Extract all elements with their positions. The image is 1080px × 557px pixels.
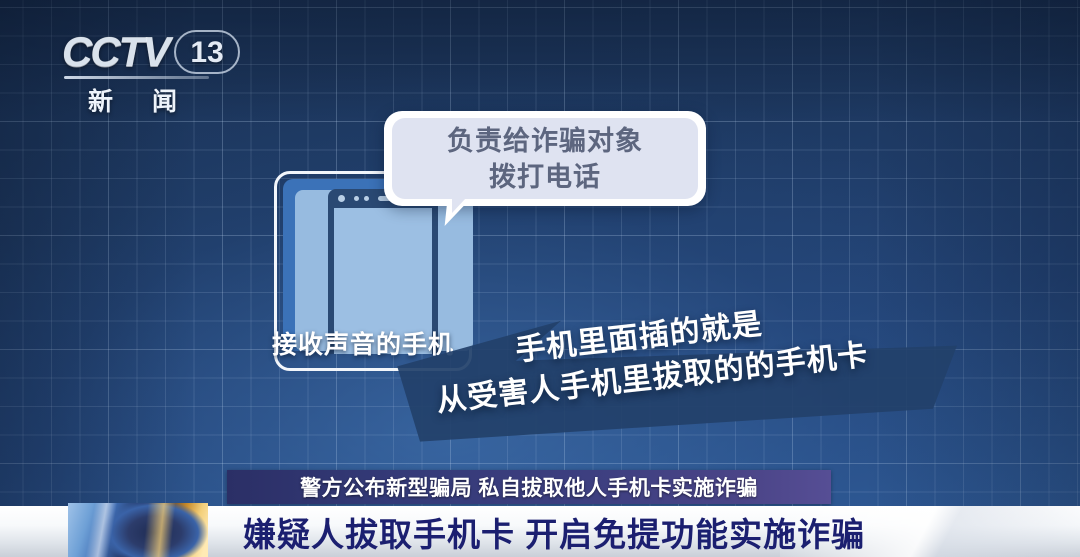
phone-sensor-dot-2-icon xyxy=(364,196,369,201)
globe-decoration-icon xyxy=(68,503,208,557)
callout-banner: 手机里面插的就是 从受害人手机里拔取的的手机卡 xyxy=(378,300,978,460)
phone-sensor-dot-icon xyxy=(354,196,359,201)
channel-logo: CCTV 13 新 闻 xyxy=(62,28,252,118)
channel-sub-label: 新 闻 xyxy=(88,82,193,118)
headline-text: 嫌疑人拔取手机卡 开启免提功能实施诈骗 xyxy=(243,506,865,557)
globe-streak xyxy=(68,503,208,557)
broadcast-frame: CCTV 13 新 闻 接收声音的手机 负责给诈骗对象 拨打电话 手机里面插的就… xyxy=(0,0,1080,557)
speech-bubble-tail-inner xyxy=(452,198,466,213)
phone-camera-icon xyxy=(338,195,345,202)
logo-underline xyxy=(64,76,209,79)
speech-bubble-line-1: 负责给诈骗对象 xyxy=(447,123,643,159)
speech-bubble-line-2: 拨打电话 xyxy=(489,159,601,195)
speech-bubble: 负责给诈骗对象 拨打电话 xyxy=(392,118,698,199)
channel-number-badge: 13 xyxy=(174,30,240,74)
topic-bar-text: 警方公布新型骗局 私自拔取他人手机卡实施诈骗 xyxy=(300,472,758,502)
cctv-wordmark: CCTV xyxy=(62,28,168,76)
topic-bar: 警方公布新型骗局 私自拔取他人手机卡实施诈骗 xyxy=(227,470,831,504)
